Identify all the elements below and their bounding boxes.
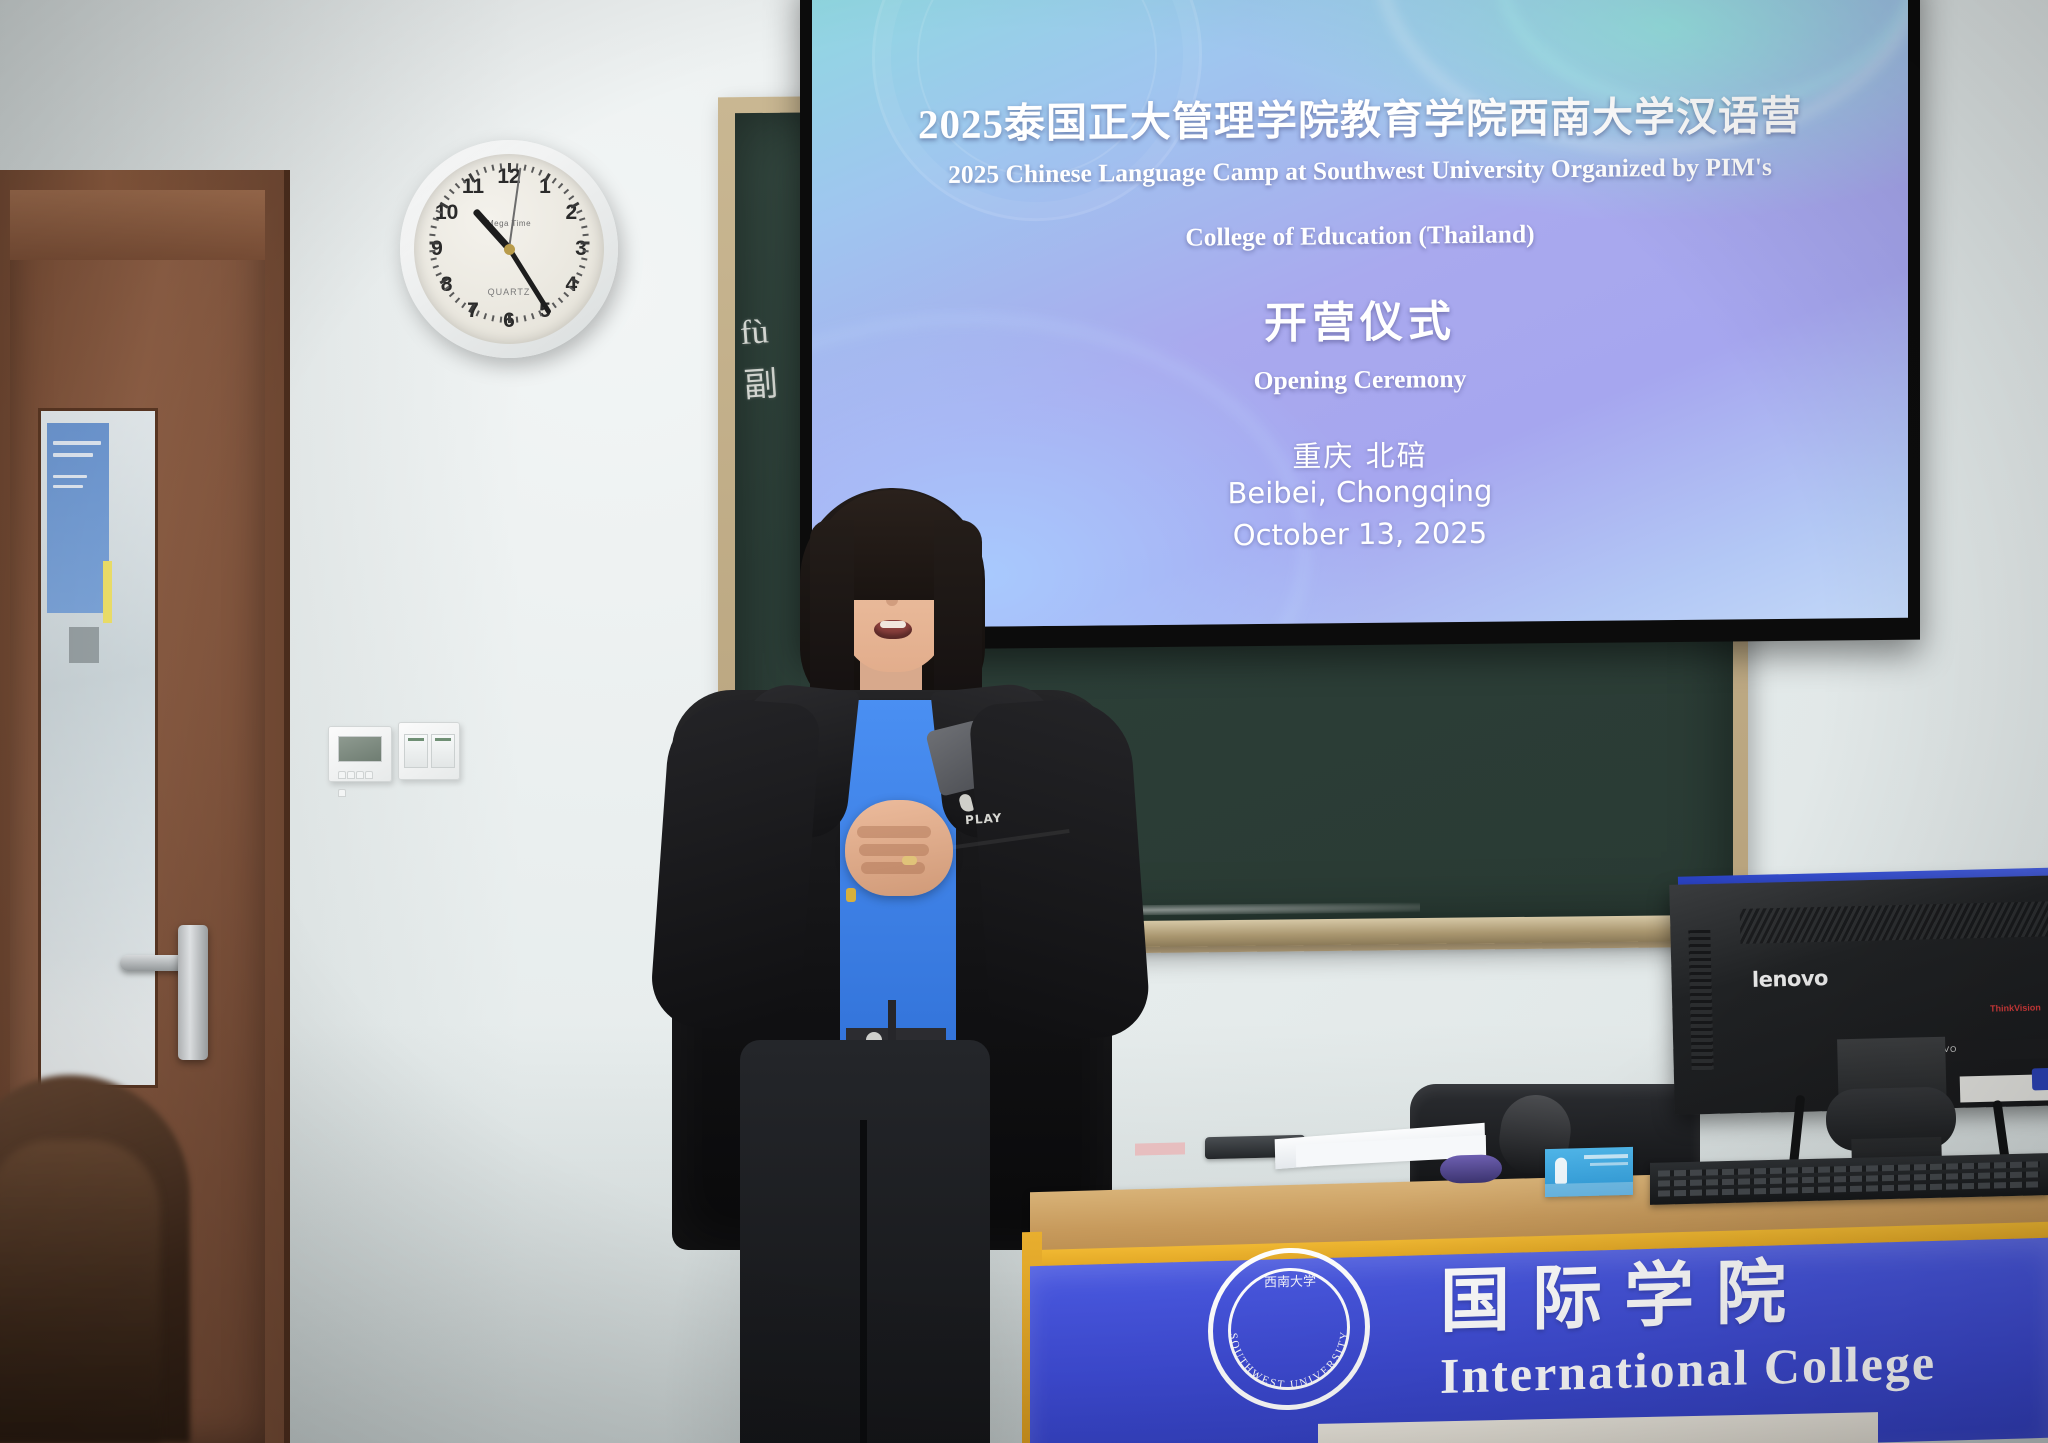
frosted-glass-lower xyxy=(41,955,155,1085)
clock-center-pin xyxy=(504,244,515,255)
clock-tick xyxy=(508,163,511,172)
photo-scene: Mega Time QUARTZ 121234567891011 fù 副 20… xyxy=(0,0,2048,1443)
clock-tick xyxy=(568,195,574,200)
clock-tick xyxy=(558,297,564,303)
clock-tick xyxy=(581,225,587,228)
clock-tick xyxy=(429,234,435,237)
jacket-brand-text: PLAY xyxy=(965,811,1003,828)
clock-tick xyxy=(483,167,487,173)
clock-tick xyxy=(491,165,494,171)
clock-tick xyxy=(508,314,511,323)
door-vision-panel xyxy=(38,408,158,1088)
speaker-ring xyxy=(902,856,917,865)
wall-clock: Mega Time QUARTZ 121234567891011 xyxy=(414,154,604,344)
clock-tick xyxy=(582,234,588,237)
light-switch-left[interactable] xyxy=(404,734,428,768)
light-switch-right[interactable] xyxy=(431,734,455,768)
thermostat-buttons[interactable] xyxy=(338,766,382,775)
computer-mouse[interactable] xyxy=(1440,1154,1502,1184)
tissue-box-figure xyxy=(1555,1158,1567,1184)
pink-card[interactable] xyxy=(1135,1142,1185,1155)
clock-tick xyxy=(431,257,437,260)
slide-section-chinese: 开营仪式 xyxy=(812,283,1908,356)
reflected-yellow-strip xyxy=(103,561,112,623)
clock-tick xyxy=(433,265,439,269)
clock-tick xyxy=(483,313,487,319)
thermostat-display xyxy=(338,736,382,762)
clock-tick xyxy=(444,195,450,200)
clock-tick xyxy=(579,265,585,269)
podium-banner-chinese: 国际学院 xyxy=(1440,1228,2048,1346)
tissue-box-text-2 xyxy=(1590,1162,1628,1166)
tissue-box-skyline xyxy=(1545,1182,1633,1197)
clock-tick xyxy=(558,183,564,189)
speaker-clasped-hands xyxy=(845,800,953,896)
clock-tick xyxy=(430,242,439,245)
speaker-arm-left xyxy=(649,695,822,1035)
monitor-vent-grille xyxy=(1740,901,2048,944)
tissue-box-text-1 xyxy=(1584,1154,1628,1159)
clock-tick xyxy=(491,315,494,321)
clock-tick xyxy=(431,225,437,228)
clock-tick xyxy=(531,167,535,173)
light-switch-plate[interactable] xyxy=(398,722,460,780)
door-handle-plate[interactable] xyxy=(178,925,208,1060)
speaker-arm-right xyxy=(968,695,1151,1045)
slide-subtitle-line-2: College of Education (Thailand) xyxy=(812,216,1908,257)
speaker-hair-left xyxy=(810,520,854,710)
speaker-teeth xyxy=(880,621,906,628)
university-seal-ring-text: SOUTHWEST UNIVERSITY xyxy=(1208,1246,1370,1413)
reflected-poster xyxy=(47,423,109,613)
lenovo-logo: lenovo xyxy=(1752,966,1829,992)
tissue-box[interactable] xyxy=(1545,1147,1633,1197)
clock-tick xyxy=(523,315,526,321)
thinkvision-badge: ThinkVision xyxy=(1990,1002,2041,1013)
clock-movement-label: QUARTZ xyxy=(488,287,531,297)
speaker-trousers-seam xyxy=(860,1120,867,1443)
reflected-grey-shape xyxy=(69,627,99,663)
foreground-hair-strand xyxy=(0,1140,160,1443)
clock-tick xyxy=(563,189,569,195)
monitor-vga-connector xyxy=(2032,1068,2048,1091)
jacket-yellow-detail xyxy=(846,888,856,902)
slide-title-chinese: 2025泰国正大管理学院教育学院西南大学汉语营 xyxy=(812,81,1908,152)
monitor-side-vent xyxy=(1688,930,1713,1070)
clock-tick xyxy=(581,242,590,245)
speaker-hair-right xyxy=(934,520,982,716)
clock-tick xyxy=(523,165,526,171)
clock-minute-hand xyxy=(507,248,552,315)
clock-tick xyxy=(449,189,455,195)
svg-text:SOUTHWEST UNIVERSITY: SOUTHWEST UNIVERSITY xyxy=(1227,1329,1351,1393)
clock-tick xyxy=(581,257,587,260)
door-top-section xyxy=(10,190,265,260)
